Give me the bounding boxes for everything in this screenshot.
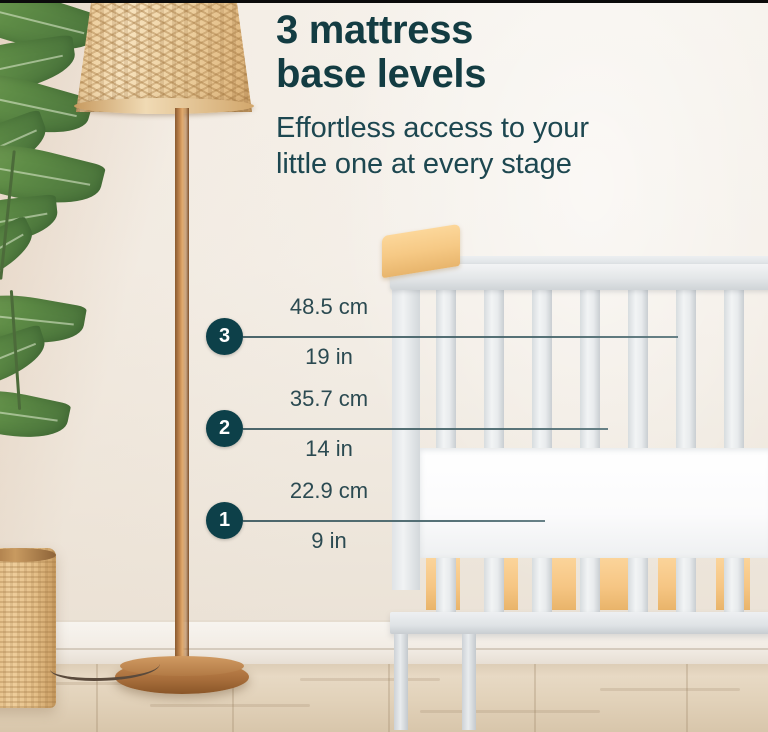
level-1-inch: 9 in xyxy=(263,528,395,554)
level-1-cm: 22.9 cm xyxy=(263,478,395,504)
level-3-cm: 48.5 cm xyxy=(263,294,395,320)
level-2-inch: 14 in xyxy=(263,436,395,462)
level-badge-3: 3 xyxy=(206,318,243,355)
level-badge-2: 2 xyxy=(206,410,243,447)
leader-line-3 xyxy=(243,336,678,338)
measurement-callouts: 3 48.5 cm 19 in 2 35.7 cm 14 in 1 22.9 c… xyxy=(0,0,768,732)
top-letterbox-bar xyxy=(0,0,768,3)
leader-line-1 xyxy=(243,520,545,522)
level-3-inch: 19 in xyxy=(263,344,395,370)
level-badge-1: 1 xyxy=(206,502,243,539)
infographic-canvas: 3 mattress base levels Effortless access… xyxy=(0,0,768,732)
leader-line-2 xyxy=(243,428,608,430)
level-2-cm: 35.7 cm xyxy=(263,386,395,412)
